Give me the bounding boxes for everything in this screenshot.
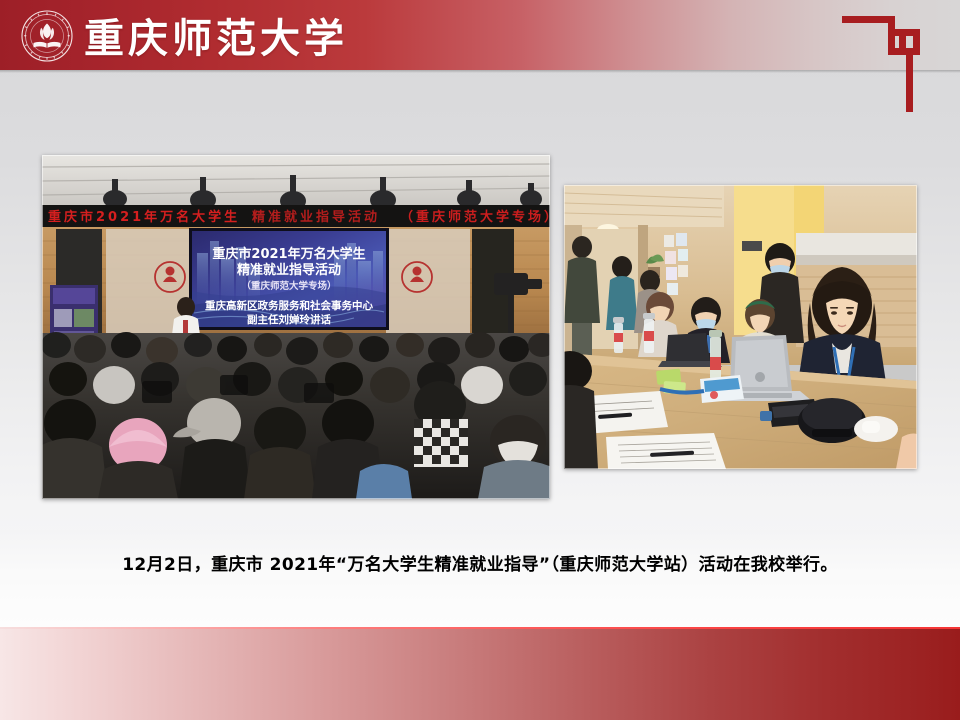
university-name-title: 重庆师范大学 <box>84 6 348 64</box>
header-shadow-divider <box>0 70 960 73</box>
caption-strip <box>0 530 960 627</box>
svg-text:重庆市2021年万名大学生: 重庆市2021年万名大学生 <box>212 246 365 262</box>
svg-text:重庆市2021年万名大学生: 重庆市2021年万名大学生 <box>48 209 240 225</box>
registration-desk-photo <box>564 185 917 469</box>
bottom-red-band <box>0 629 960 720</box>
slide-caption: 12月2日，重庆市 2021年“万名大学生精准就业指导”（重庆师范大学站）活动在… <box>0 552 960 578</box>
svg-text:重庆高新区政务服务和社会事务中心: 重庆高新区政务服务和社会事务中心 <box>205 299 373 312</box>
svg-text:副主任刘婵玲讲话: 副主任刘婵玲讲话 <box>247 313 331 326</box>
svg-text:（重庆师范大学专场）: （重庆师范大学专场） <box>400 209 550 225</box>
svg-text:精准就业指导活动: 精准就业指导活动 <box>252 209 380 225</box>
slide-canvas: 重庆师范大学 <box>0 0 960 720</box>
university-seal-icon <box>21 10 73 62</box>
svg-text:（重庆师范大学专场）: （重庆师范大学专场） <box>241 280 336 292</box>
svg-text:精准就业指导活动: 精准就业指导活动 <box>237 262 341 278</box>
conference-hall-photo: 重庆市2021年万名大学生 精准就业指导活动 （重庆师范大学专场） <box>42 155 550 499</box>
